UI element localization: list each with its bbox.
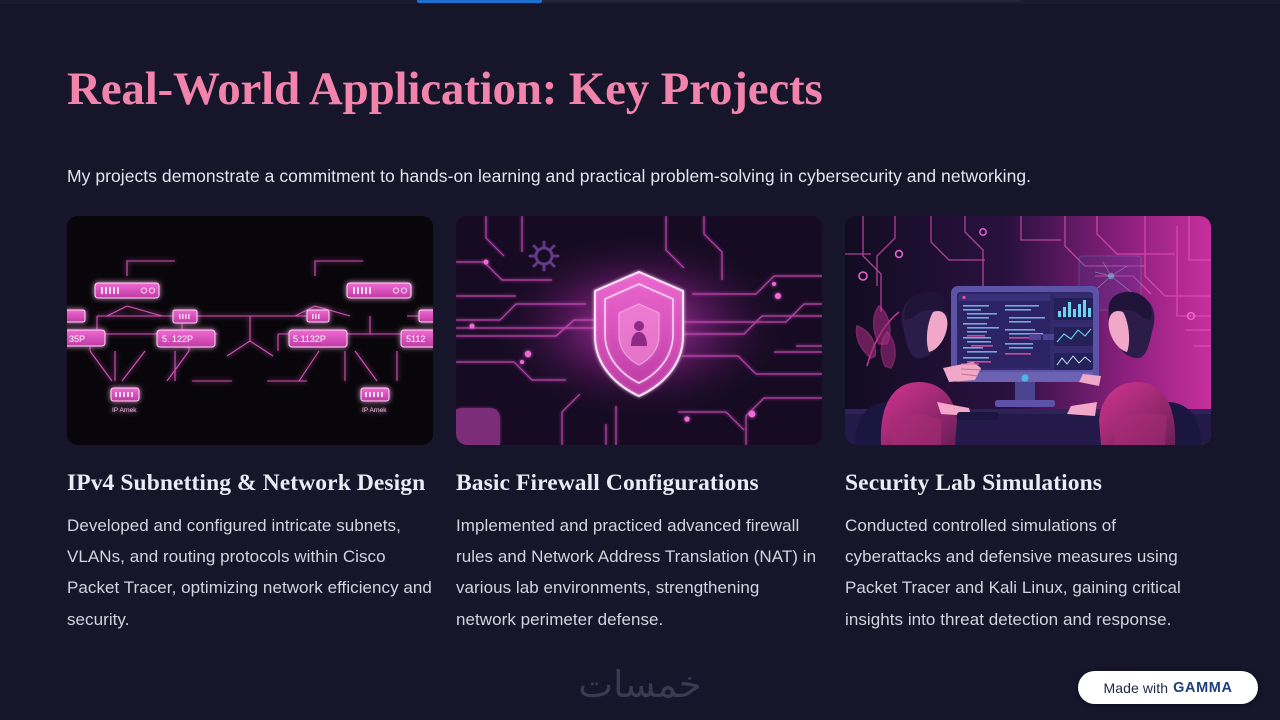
project-card[interactable]: 35P 5. 122P 5.1132P 5112 IP Arnek — [67, 216, 433, 635]
project-card[interactable]: Basic Firewall Configurations Implemente… — [456, 216, 822, 635]
project-card[interactable]: Security Lab Simulations Conducted contr… — [845, 216, 1211, 635]
made-with-gamma-badge[interactable]: Made with GAMMA — [1078, 671, 1258, 704]
card-body: Developed and configured intricate subne… — [67, 510, 433, 635]
svg-text:IP Arnek: IP Arnek — [362, 407, 387, 414]
svg-text:5. 122P: 5. 122P — [162, 334, 193, 344]
svg-text:IP Arnek: IP Arnek — [112, 407, 137, 414]
project-cards: 35P 5. 122P 5.1132P 5112 IP Arnek — [67, 216, 1213, 635]
progress-bar — [0, 0, 1280, 4]
watermark: خمسات — [578, 663, 701, 706]
made-with-label: Made with — [1103, 680, 1168, 696]
progress-bar-fill — [417, 0, 542, 3]
svg-text:35P: 35P — [69, 334, 85, 344]
page-subtitle: My projects demonstrate a commitment to … — [67, 166, 1031, 187]
card-title: Basic Firewall Configurations — [456, 468, 822, 499]
gamma-brand-label: GAMMA — [1173, 680, 1232, 696]
card-body: Implemented and practiced advanced firew… — [456, 510, 822, 635]
svg-text:5.1132P: 5.1132P — [293, 334, 326, 344]
card-body: Conducted controlled simulations of cybe… — [845, 510, 1211, 635]
slide-root: Real-World Application: Key Projects My … — [0, 0, 1280, 720]
card-title: IPv4 Subnetting & Network Design — [67, 468, 433, 499]
network-topology-diagram: 35P 5. 122P 5.1132P 5112 IP Arnek — [67, 216, 433, 445]
card-title: Security Lab Simulations — [845, 468, 1211, 499]
page-title: Real-World Application: Key Projects — [67, 62, 823, 116]
progress-bar-track — [542, 0, 1020, 2]
security-operations-center-illustration — [845, 216, 1211, 445]
shield-circuit-illustration — [456, 216, 822, 445]
svg-text:5112: 5112 — [406, 334, 425, 344]
